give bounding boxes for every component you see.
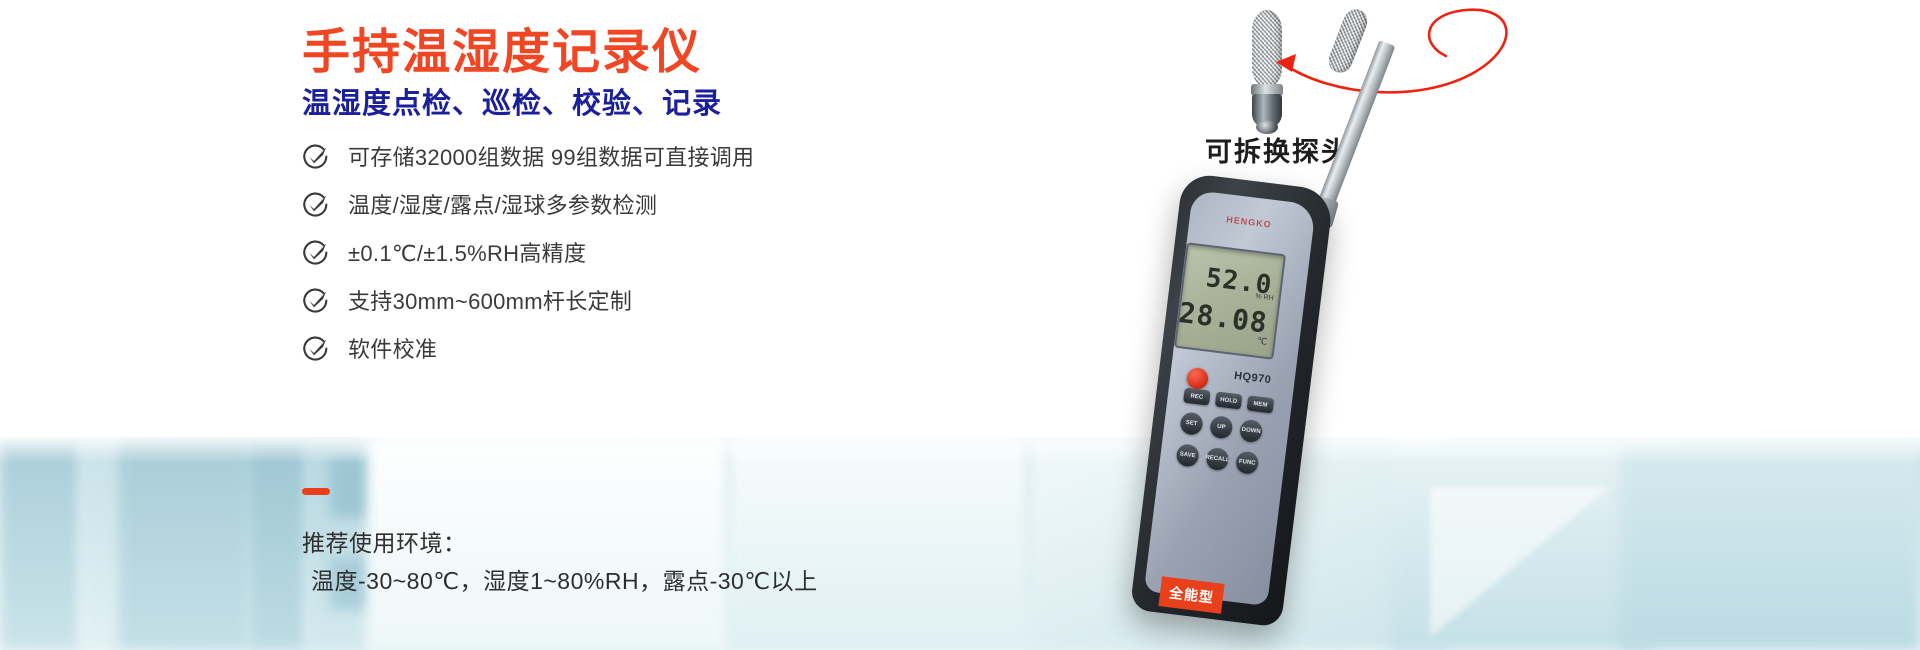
check-circle-icon xyxy=(302,143,329,170)
key-rec[interactable]: REC xyxy=(1183,388,1211,406)
list-item-label: 温度/湿度/露点/湿球多参数检测 xyxy=(348,188,657,220)
thermo-hygrometer-device: HENGKO 52.0 % RH 28.08 ℃ HQ970 REC HOLD … xyxy=(1130,20,1450,640)
feature-list: 可存储32000组数据 99组数据可直接调用 温度/湿度/露点/湿球多参数检测 … xyxy=(302,132,1002,372)
key-hold[interactable]: HOLD xyxy=(1215,391,1243,409)
product-banner: 手持温湿度记录仪 温湿度点检、巡检、校验、记录 可存储32000组数据 99组数… xyxy=(0,0,1920,650)
humidity-unit: % RH xyxy=(1255,293,1274,302)
key-down[interactable]: DOWN xyxy=(1239,419,1264,444)
list-item: 支持30mm~600mm杆长定制 xyxy=(302,276,1002,324)
bg-highlight-triangle xyxy=(1430,487,1610,637)
list-item: ±0.1℃/±1.5%RH高精度 xyxy=(302,228,1002,276)
probe-mesh-tip xyxy=(1325,6,1371,76)
background-photo-band xyxy=(0,437,1920,650)
environment-title: 推荐使用环境： xyxy=(302,524,467,558)
list-item: 温度/湿度/露点/湿球多参数检测 xyxy=(302,180,1002,228)
check-circle-icon xyxy=(302,287,329,314)
key-mem[interactable]: MEM xyxy=(1247,395,1275,413)
keypad: REC HOLD MEM SET UP DOWN SAVE RECALL FUN… xyxy=(1168,385,1301,509)
key-recall[interactable]: RECALL xyxy=(1205,447,1230,472)
page-subtitle: 温湿度点检、巡检、校验、记录 xyxy=(302,80,722,122)
bg-band-fade xyxy=(0,437,1920,463)
bg-shape xyxy=(330,457,370,517)
bg-shape xyxy=(0,437,80,650)
bg-shape xyxy=(80,437,118,650)
bg-shape xyxy=(728,437,1028,650)
check-circle-icon xyxy=(302,191,329,218)
list-item-label: 软件校准 xyxy=(348,332,437,364)
key-func[interactable]: FUNC xyxy=(1235,450,1260,475)
temperature-reading: 28.08 xyxy=(1177,296,1270,340)
lcd-screen: 52.0 % RH 28.08 ℃ xyxy=(1174,242,1286,359)
bg-shape xyxy=(1620,437,1920,650)
list-item: 软件校准 xyxy=(302,324,1002,372)
bg-shape xyxy=(118,437,248,650)
check-circle-icon xyxy=(302,335,329,362)
key-set[interactable]: SET xyxy=(1179,411,1204,436)
list-item-label: 支持30mm~600mm杆长定制 xyxy=(348,284,632,316)
list-item-label: 可存储32000组数据 99组数据可直接调用 xyxy=(348,140,754,172)
key-save[interactable]: SAVE xyxy=(1175,443,1200,468)
bg-shape xyxy=(248,437,306,650)
check-circle-icon xyxy=(302,239,329,266)
page-title: 手持温湿度记录仪 xyxy=(302,12,702,82)
list-item: 可存储32000组数据 99组数据可直接调用 xyxy=(302,132,1002,180)
key-up[interactable]: UP xyxy=(1209,415,1234,440)
list-item-label: ±0.1℃/±1.5%RH高精度 xyxy=(348,236,586,268)
accent-dash xyxy=(302,488,330,495)
environment-spec: 温度-30~80℃，湿度1~80%RH，露点-30℃以上 xyxy=(311,562,818,596)
temperature-unit: ℃ xyxy=(1257,336,1268,348)
